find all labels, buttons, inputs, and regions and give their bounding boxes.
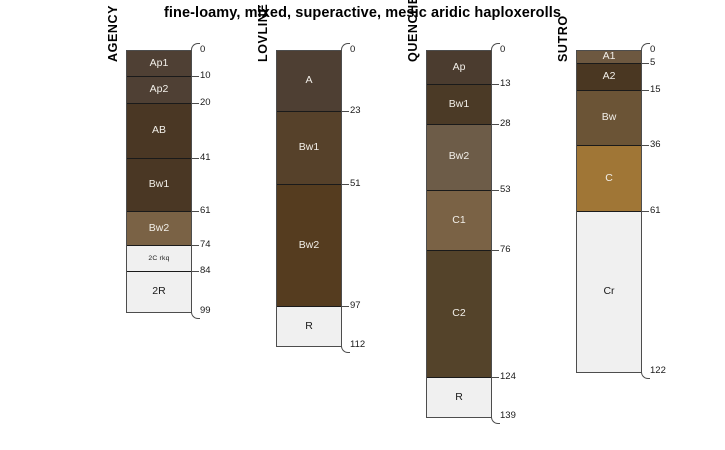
horizon-segment[interactable]: Ap2: [127, 77, 191, 103]
horizon-label: 2R: [152, 286, 165, 298]
depth-tick-label: 0: [500, 45, 505, 55]
horizon-label: Bw1: [299, 142, 319, 154]
axis-tick-curve: [191, 43, 200, 52]
depth-tick-label: 13: [500, 79, 511, 89]
depth-tick-label: 51: [350, 179, 361, 189]
horizon-segment[interactable]: R: [277, 307, 341, 347]
axis-tick-curve: [641, 370, 650, 379]
horizon-segment[interactable]: Cr: [577, 212, 641, 373]
depth-tick-label: 139: [500, 411, 516, 421]
depth-tick-label: 61: [650, 206, 661, 216]
profile-name-label: QUENCHEROO: [406, 0, 420, 62]
horizon-segment[interactable]: Bw2: [427, 125, 491, 191]
depth-tick-label: 61: [200, 206, 211, 216]
depth-tick-label: 20: [200, 98, 211, 108]
horizon-label: A: [305, 75, 312, 87]
depth-tick-label: 10: [200, 71, 211, 81]
axis-tick-curve: [341, 43, 350, 52]
depth-tick-label: 0: [650, 45, 655, 55]
depth-tick-label: 0: [200, 45, 205, 55]
horizon-label: C: [605, 173, 613, 185]
axis-tick: [191, 271, 199, 272]
depth-tick-label: 122: [650, 366, 666, 376]
horizon-label: Bw: [602, 112, 617, 124]
horizon-segment[interactable]: 2C rkq: [127, 246, 191, 272]
horizon-segment[interactable]: Bw1: [427, 85, 491, 125]
profile-column: Ap1Ap2ABBw1Bw22C rkq2R: [126, 50, 192, 313]
profile-column: ApBw1Bw2C1C2R: [426, 50, 492, 418]
axis-tick: [191, 76, 199, 77]
axis-tick-curve: [491, 415, 500, 424]
axis-tick-curve: [491, 43, 500, 52]
axis-tick: [641, 211, 649, 212]
depth-tick-label: 84: [200, 266, 211, 276]
axis-tick: [641, 90, 649, 91]
axis-tick: [641, 145, 649, 146]
axis-tick: [491, 124, 499, 125]
horizon-segment[interactable]: Ap: [427, 51, 491, 85]
profile-column: A1A2BwCCr: [576, 50, 642, 373]
axis-tick: [641, 63, 649, 64]
horizon-label: Bw1: [449, 99, 469, 111]
depth-tick-label: 53: [500, 185, 511, 195]
depth-tick-label: 28: [500, 119, 511, 129]
horizon-segment[interactable]: Bw2: [127, 212, 191, 246]
horizon-label: Bw2: [149, 223, 169, 235]
axis-tick: [341, 184, 349, 185]
depth-tick-label: 5: [650, 58, 655, 68]
horizon-segment[interactable]: Bw2: [277, 185, 341, 306]
horizon-segment[interactable]: Bw1: [127, 159, 191, 212]
profile-column: ABw1Bw2R: [276, 50, 342, 347]
depth-tick-label: 112: [350, 340, 365, 350]
horizon-segment[interactable]: AB: [127, 104, 191, 159]
axis-tick: [191, 158, 199, 159]
horizon-label: Bw1: [149, 179, 169, 191]
horizon-segment[interactable]: C: [577, 146, 641, 212]
axis-tick-curve: [341, 344, 350, 353]
axis-tick: [341, 306, 349, 307]
depth-tick-label: 124: [500, 372, 516, 382]
depth-tick-label: 97: [350, 301, 361, 311]
horizon-label: A1: [603, 51, 616, 63]
profile-name-label: LOVLINE: [256, 4, 270, 62]
axis-tick: [191, 103, 199, 104]
horizon-label: Cr: [603, 286, 614, 298]
depth-tick-label: 99: [200, 306, 211, 316]
depth-tick-label: 76: [500, 245, 511, 255]
horizon-segment[interactable]: Bw: [577, 91, 641, 146]
axis-tick: [491, 250, 499, 251]
axis-tick: [191, 245, 199, 246]
axis-tick: [191, 211, 199, 212]
depth-tick-label: 74: [200, 240, 211, 250]
axis-tick-curve: [641, 43, 650, 52]
horizon-segment[interactable]: A1: [577, 51, 641, 64]
profile-name-label: AGENCY: [106, 5, 120, 62]
axis-tick: [491, 377, 499, 378]
axis-tick: [491, 84, 499, 85]
horizon-label: A2: [603, 71, 616, 83]
horizon-label: Ap1: [150, 58, 169, 70]
horizon-label: R: [305, 321, 313, 333]
axis-tick-curve: [191, 310, 200, 319]
horizon-label: AB: [152, 125, 166, 137]
horizon-segment[interactable]: C1: [427, 191, 491, 252]
horizon-segment[interactable]: Ap1: [127, 51, 191, 77]
horizon-label: Bw2: [299, 240, 319, 252]
horizon-label: Bw2: [449, 151, 469, 163]
horizon-segment[interactable]: C2: [427, 251, 491, 377]
horizon-label: C1: [452, 215, 465, 227]
axis-tick: [341, 111, 349, 112]
horizon-label: 2C rkq: [148, 255, 169, 262]
horizon-segment[interactable]: R: [427, 378, 491, 418]
horizon-label: Ap: [453, 62, 466, 74]
depth-tick-label: 0: [350, 45, 355, 55]
horizon-segment[interactable]: Bw1: [277, 112, 341, 186]
horizon-label: R: [455, 392, 463, 404]
depth-tick-label: 41: [200, 153, 211, 163]
horizon-label: C2: [452, 308, 465, 320]
axis-tick: [491, 190, 499, 191]
depth-tick-label: 36: [650, 140, 661, 150]
depth-tick-label: 23: [350, 106, 361, 116]
horizon-segment[interactable]: 2R: [127, 272, 191, 312]
depth-tick-label: 15: [650, 85, 661, 95]
horizon-segment[interactable]: A2: [577, 64, 641, 90]
profile-name-label: SUTRO: [556, 15, 570, 62]
horizon-label: Ap2: [150, 84, 169, 96]
soil-profile-figure: fine-loamy, mixed, superactive, mesic ar…: [0, 0, 725, 450]
horizon-segment[interactable]: A: [277, 51, 341, 112]
